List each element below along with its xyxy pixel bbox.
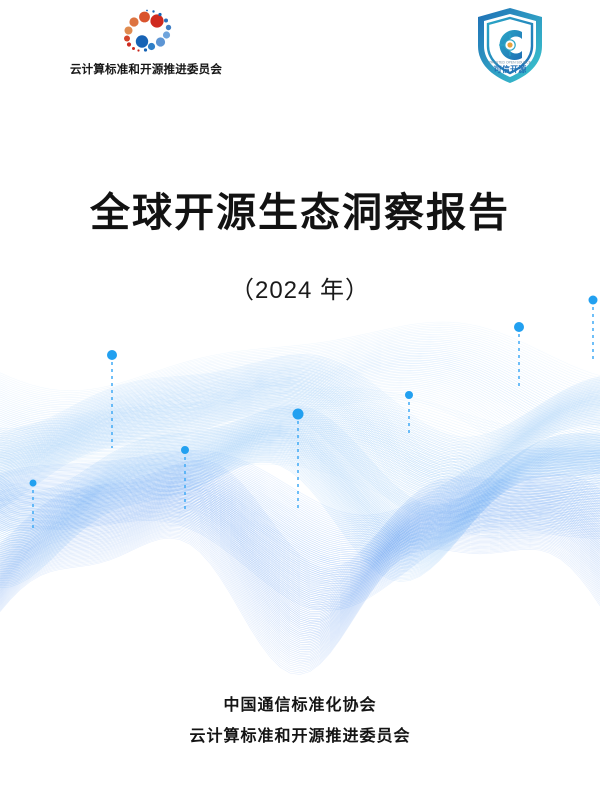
page-title: 全球开源生态洞察报告 bbox=[0, 188, 600, 238]
cover-footer: 中国通信标准化协会 云计算标准和开源推进委员会 bbox=[0, 691, 600, 752]
cover-header: 云计算标准和开源推进委员会 bbox=[0, 0, 600, 100]
wave-lines-graphic bbox=[0, 300, 600, 720]
ccsa-committee-logo: 云计算标准和开源推进委员会 bbox=[56, 8, 236, 78]
footer-committee: 云计算标准和开源推进委员会 bbox=[0, 722, 600, 752]
trusted-open-source-logo: TRUSTED OPEN SOURCE 可信开源 bbox=[470, 4, 550, 88]
title-block: 全球开源生态洞察报告 （2024 年） bbox=[0, 188, 600, 305]
report-cover-page: 云计算标准和开源推进委员会 bbox=[0, 0, 600, 800]
footer-organization: 中国通信标准化协会 bbox=[0, 691, 600, 721]
wave-artwork bbox=[0, 300, 600, 720]
shield-icon: TRUSTED OPEN SOURCE 可信开源 bbox=[470, 4, 550, 88]
trusted-open-source-logo-caption: 可信开源 bbox=[494, 64, 528, 74]
ccsa-committee-logo-caption: 云计算标准和开源推进委员会 bbox=[56, 64, 236, 78]
trusted-open-source-logo-caption-en: TRUSTED OPEN SOURCE bbox=[489, 61, 532, 65]
dot-circle-icon bbox=[114, 8, 178, 60]
